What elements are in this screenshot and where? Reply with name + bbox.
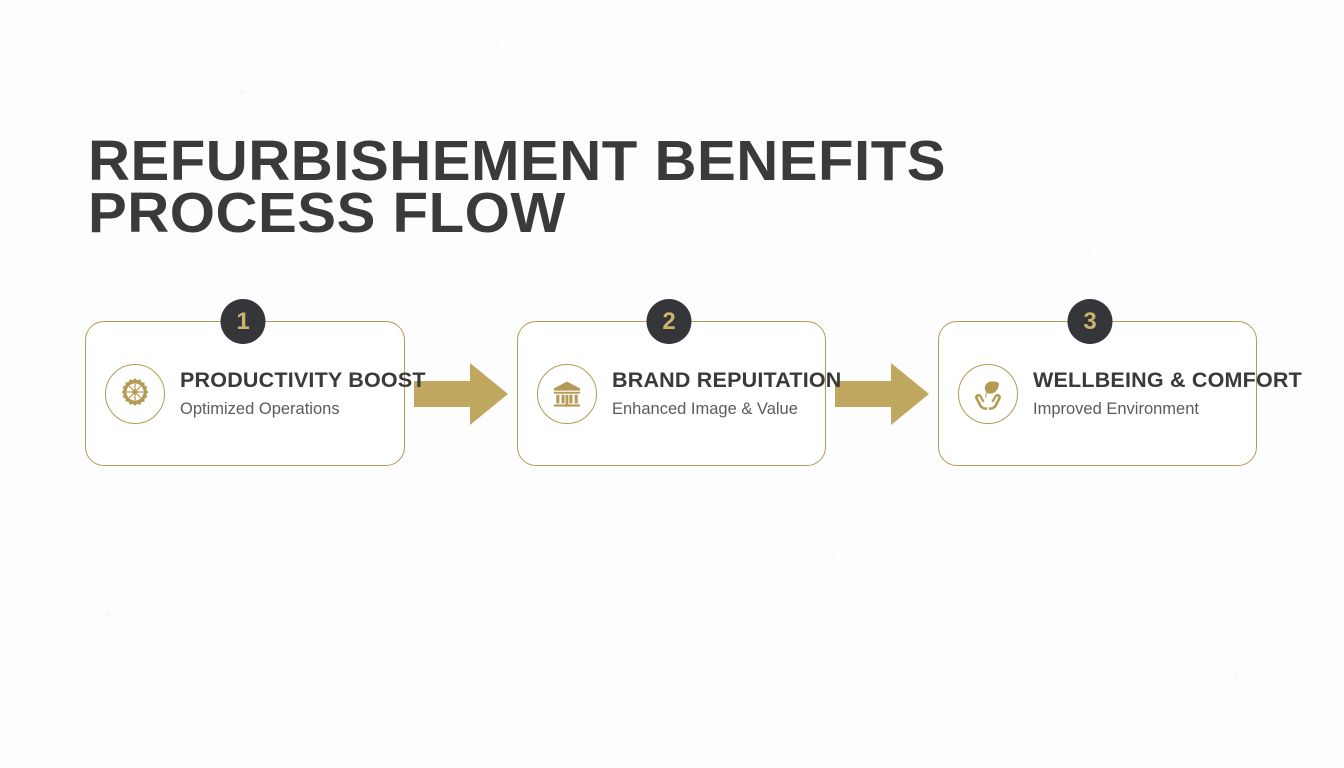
step-subtitle-2: Enhanced Image & Value	[612, 399, 842, 419]
bank-building-icon	[537, 364, 597, 424]
step-subtitle-3: Improved Environment	[1033, 399, 1302, 419]
step-text-3: WELLBEING & COMFORT Improved Environment	[1033, 368, 1302, 419]
page-title-line-1: REFURBISHEMENT BENEFITS	[88, 135, 863, 187]
process-flow: PRODUCTIVITY BOOST Optimized Operations …	[85, 321, 1257, 466]
step-heading-2: BRAND REPUITATION	[612, 368, 842, 392]
step-text-2: BRAND REPUITATION Enhanced Image & Value	[612, 368, 842, 419]
slide-canvas: REFURBISHEMENT BENEFITS PROCESS FLOW	[0, 0, 1344, 768]
process-step-2[interactable]: BRAND REPUITATION Enhanced Image & Value…	[517, 321, 826, 466]
process-step-1[interactable]: PRODUCTIVITY BOOST Optimized Operations …	[85, 321, 405, 466]
step-card-3[interactable]: WELLBEING & COMFORT Improved Environment	[938, 321, 1257, 466]
gear-icon	[105, 364, 165, 424]
process-step-3[interactable]: WELLBEING & COMFORT Improved Environment…	[938, 321, 1257, 466]
hands-holding-leaf-icon	[958, 364, 1018, 424]
step-number-badge-3: 3	[1068, 299, 1113, 344]
step-text-1: PRODUCTIVITY BOOST Optimized Operations	[180, 368, 426, 419]
step-number-badge-1: 1	[221, 299, 266, 344]
step-heading-3: WELLBEING & COMFORT	[1033, 368, 1302, 392]
step-subtitle-1: Optimized Operations	[180, 399, 426, 419]
page-title-line-2: PROCESS FLOW	[88, 187, 863, 239]
arrow-2	[826, 361, 938, 427]
step-heading-1: PRODUCTIVITY BOOST	[180, 368, 426, 392]
page-title: REFURBISHEMENT BENEFITS PROCESS FLOW	[88, 135, 863, 239]
step-number-badge-2: 2	[647, 299, 692, 344]
